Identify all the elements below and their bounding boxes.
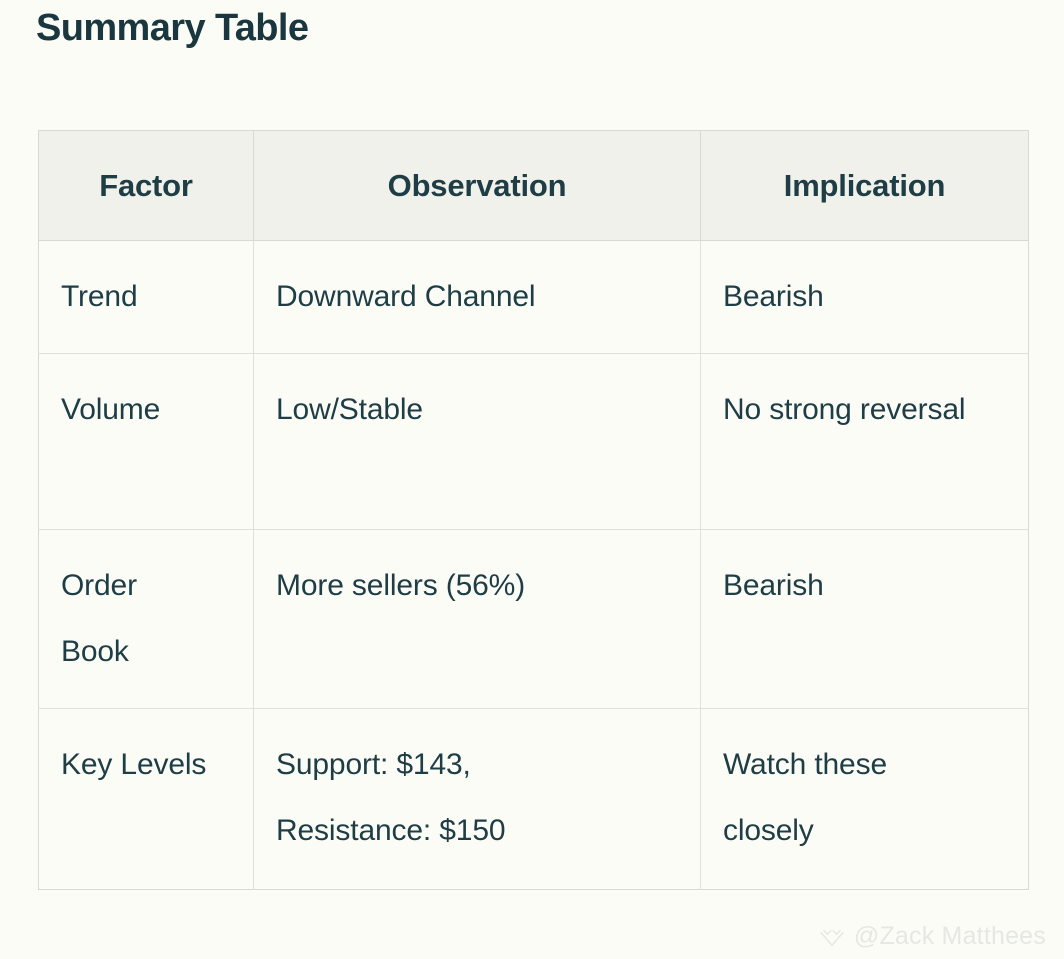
watermark: @Zack Matthees [817,921,1046,951]
table-header: Factor Observation Implication [39,131,1029,241]
table-row: Trend Downward Channel Bearish [39,241,1029,354]
cell-factor: Order Book [39,530,254,709]
cell-implication: Bearish [701,530,1029,709]
cell-factor-text: Trend [61,264,211,330]
cell-observation: Low/Stable [254,354,701,530]
cell-implication: Bearish [701,241,1029,354]
diamond-chevron-logo-icon [817,921,847,951]
cell-observation-text: Support: $143, Resistance: $150 [276,732,606,864]
table-row: Key Levels Support: $143, Resistance: $1… [39,709,1029,890]
cell-factor-text: Volume [61,377,211,443]
cell-implication: No strong reversal [701,354,1029,530]
document-page: Summary Table Factor Observation Implica… [0,0,1064,959]
watermark-handle: @Zack Matthees [854,922,1046,951]
table-body: Trend Downward Channel Bearish Volume Lo… [39,241,1029,890]
column-header-implication: Implication [701,131,1029,241]
cell-implication-text: Bearish [723,264,983,330]
cell-implication: Watch these closely [701,709,1029,890]
summary-table-container: Factor Observation Implication Trend Dow… [38,130,1028,890]
cell-observation-text: Downward Channel [276,264,606,330]
cell-implication-text: Watch these closely [723,732,983,864]
column-header-factor: Factor [39,131,254,241]
cell-observation-text: More sellers (56%) [276,553,606,619]
cell-implication-text: No strong reversal [723,377,983,443]
table-header-row: Factor Observation Implication [39,131,1029,241]
cell-factor: Key Levels [39,709,254,890]
cell-implication-text: Bearish [723,553,983,619]
cell-factor: Volume [39,354,254,530]
page-title: Summary Table [36,2,308,54]
cell-observation: Support: $143, Resistance: $150 [254,709,701,890]
column-header-observation: Observation [254,131,701,241]
table-row: Volume Low/Stable No strong reversal [39,354,1029,530]
table-row: Order Book More sellers (56%) Bearish [39,530,1029,709]
cell-observation: Downward Channel [254,241,701,354]
summary-table: Factor Observation Implication Trend Dow… [38,130,1029,890]
cell-factor: Trend [39,241,254,354]
cell-observation: More sellers (56%) [254,530,701,709]
cell-factor-text: Order Book [61,553,211,685]
cell-factor-text: Key Levels [61,732,211,798]
cell-observation-text: Low/Stable [276,377,606,443]
